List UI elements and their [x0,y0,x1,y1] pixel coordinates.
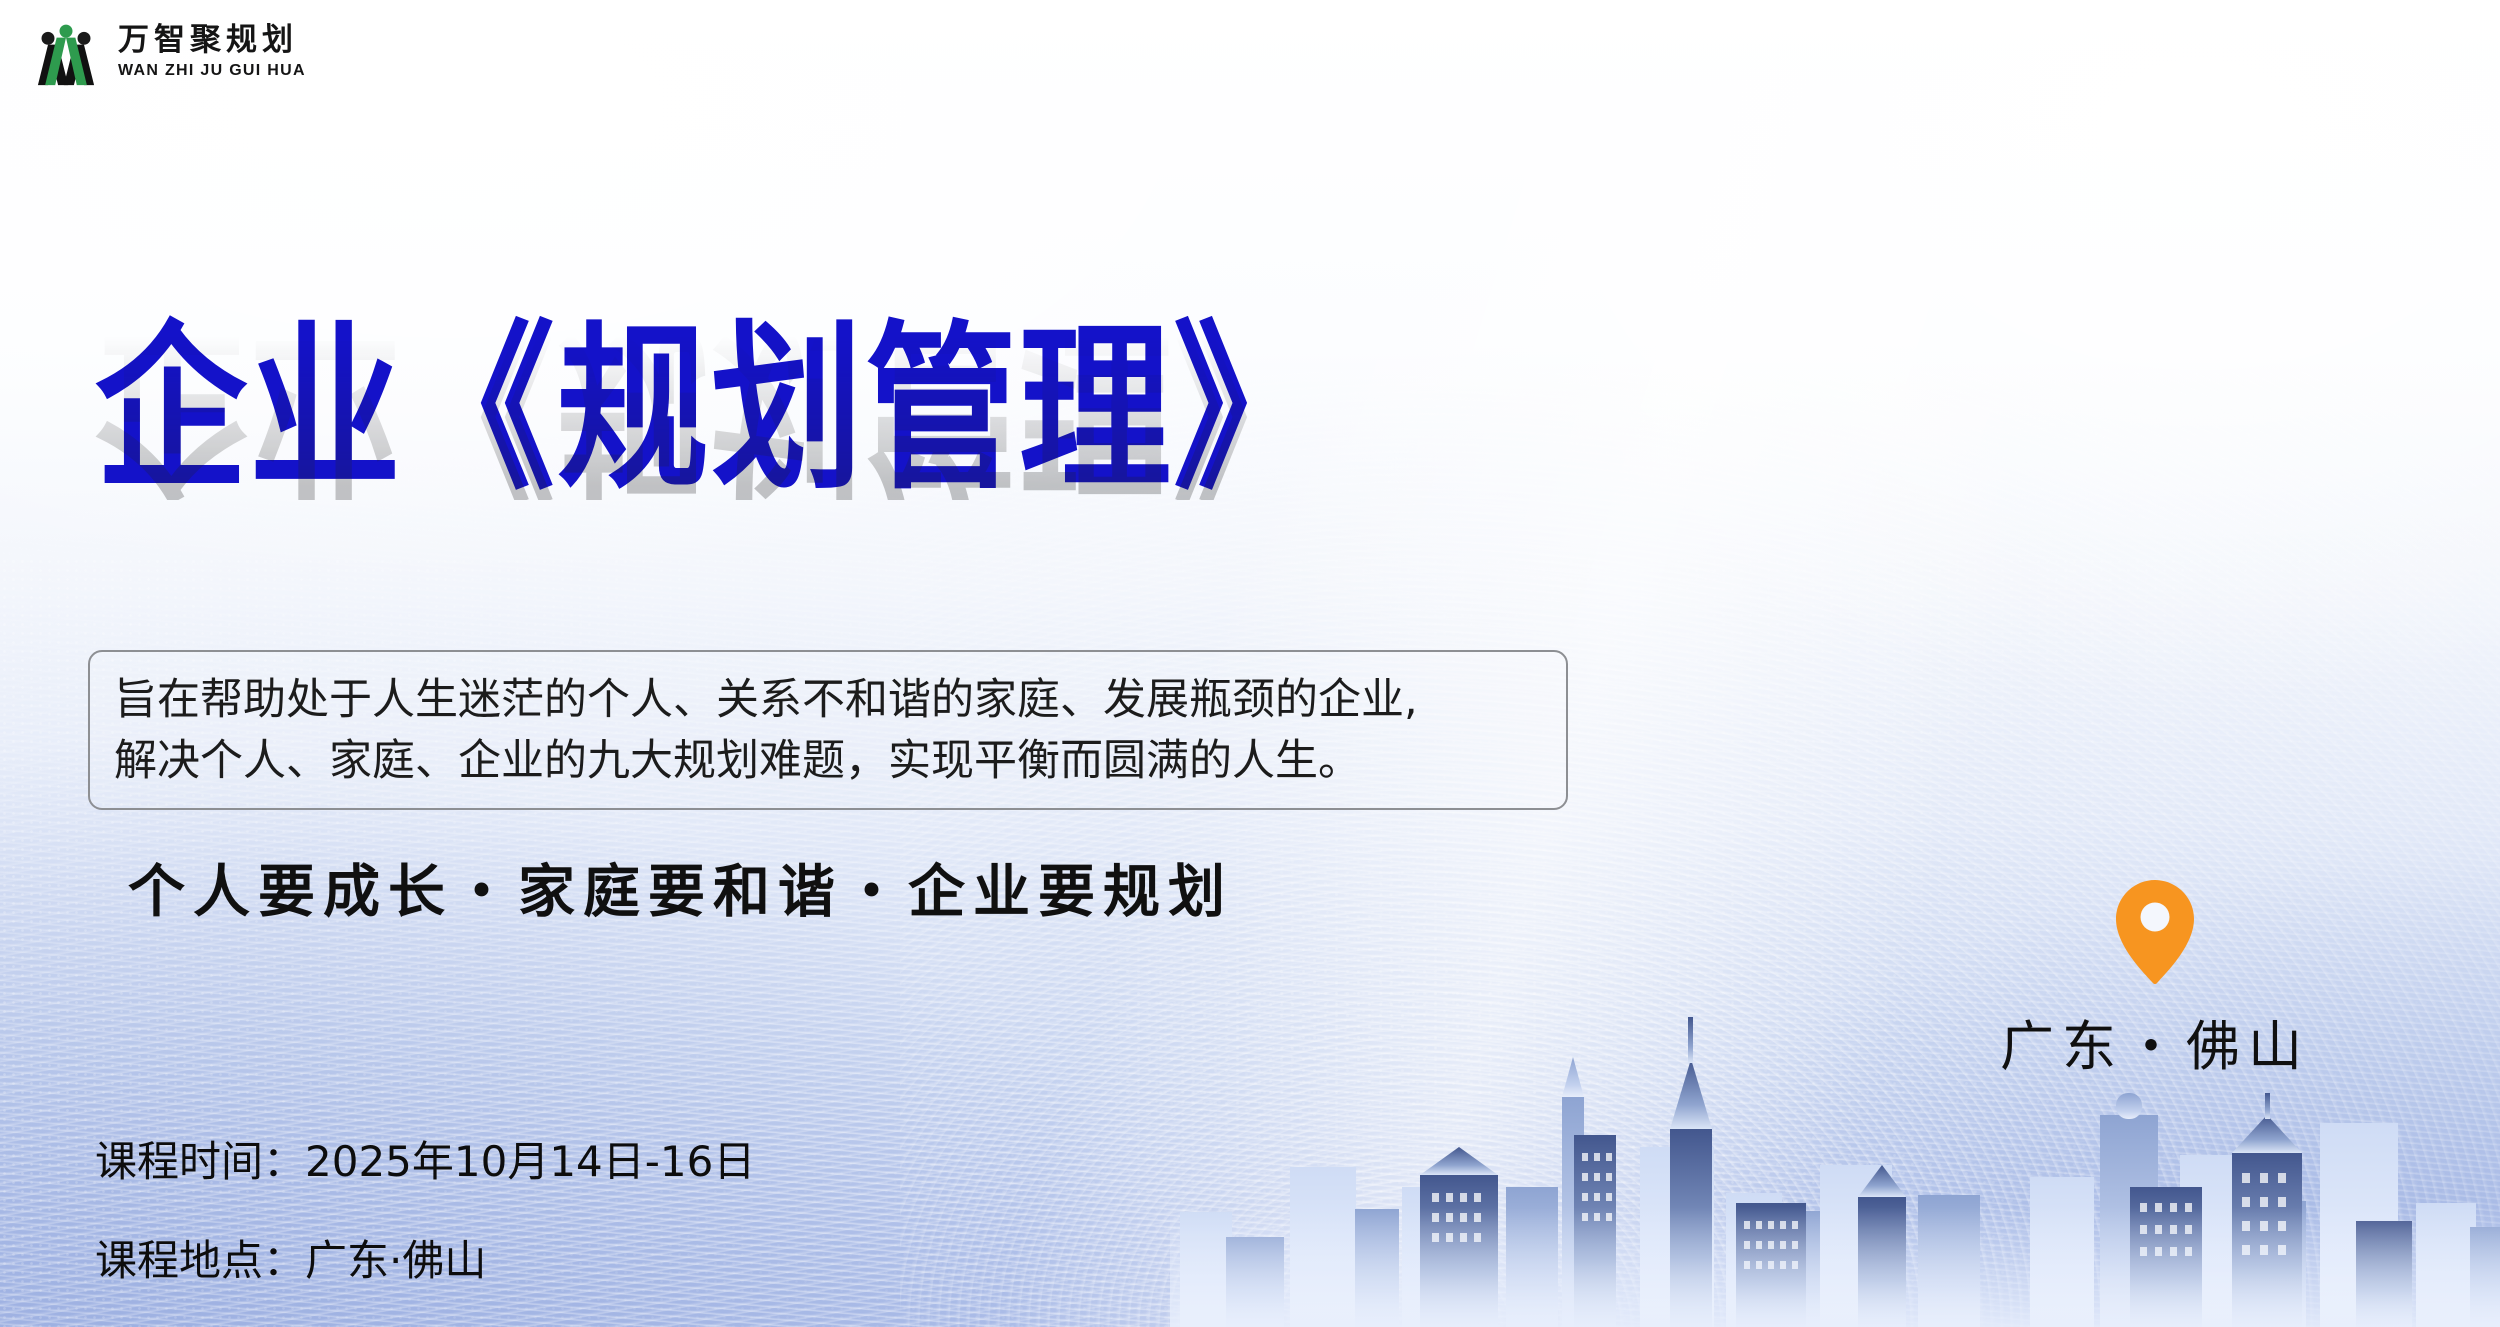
course-time-row: 课程时间：2025年10月14日-16日 [95,1128,755,1189]
description-box: 旨在帮助处于人生迷茫的个人、关系不和谐的家庭、发展瓶颈的企业, 解决个人、家庭、… [88,650,1568,810]
poster-canvas: 万智聚规划 WAN ZHI JU GUI HUA 企业《规划管理》 企业《规划管… [0,0,2500,1327]
location-label: 广东・佛山 [1955,1002,2355,1081]
course-meta: 课程时间：2025年10月14日-16日 课程地点：广东·佛山 [95,1128,755,1288]
brand-logo: 万智聚规划 WAN ZHI JU GUI HUA [30,16,306,88]
slogan-text: 个人要成长・家庭要和谐・企业要规划 [128,846,1233,928]
description-line-2: 解决个人、家庭、企业的九大规划难题，实现平衡而圆满的人生。 [114,731,1542,792]
headline-group: 企业《规划管理》 企业《规划管理》 [95,320,1327,472]
map-pin-icon [2113,878,2197,986]
three-people-logo-icon [30,16,102,88]
description-line-1: 旨在帮助处于人生迷茫的个人、关系不和谐的家庭、发展瓶颈的企业, [114,670,1542,731]
brand-name-cn: 万智聚规划 [118,25,306,56]
page-title-reflection: 企业《规划管理》 [95,321,1327,500]
location-block: 广东・佛山 [1955,878,2355,1081]
course-place-row: 课程地点：广东·佛山 [95,1227,755,1288]
brand-name-pinyin: WAN ZHI JU GUI HUA [118,63,306,79]
brand-logo-text: 万智聚规划 WAN ZHI JU GUI HUA [118,25,306,79]
